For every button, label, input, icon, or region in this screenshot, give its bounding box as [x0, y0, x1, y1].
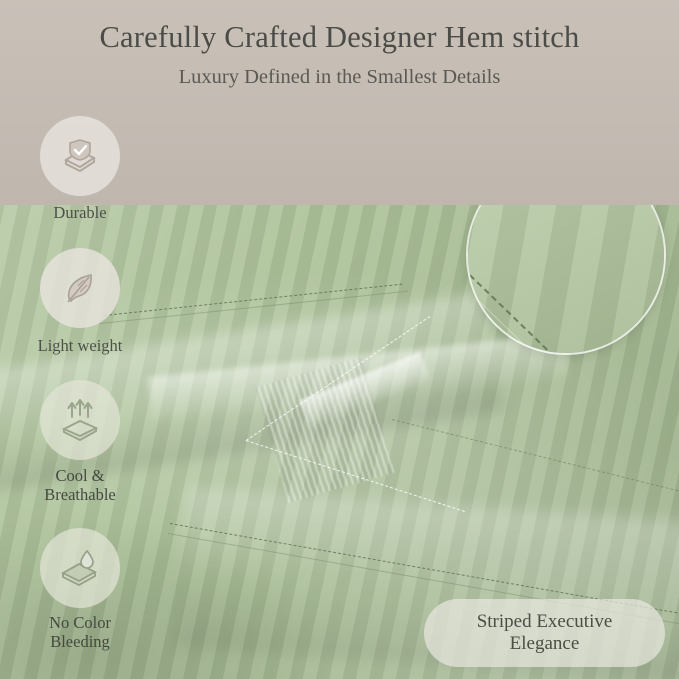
- product-infographic: Carefully Crafted Designer Hem stitch Lu…: [0, 0, 679, 679]
- no-color-bleeding-icon: [57, 545, 103, 591]
- caption-pill: Striped Executive Elegance: [424, 599, 665, 667]
- caption-line-2: Elegance: [510, 633, 580, 654]
- breathable-arrows-icon: [57, 397, 103, 443]
- zoom-fabric-texture: [466, 205, 666, 355]
- feature-label-durable: Durable: [0, 203, 160, 222]
- feature-label-cool-breathable: Cool & Breathable: [0, 466, 160, 504]
- feature-badge-light-weight: [40, 248, 120, 328]
- caption-text: Striped Executive Elegance: [477, 611, 613, 655]
- page-subtitle: Luxury Defined in the Smallest Details: [0, 66, 679, 89]
- hem-stitch-zoom-circle: [466, 205, 666, 355]
- feature-badge-cool-breathable: [40, 380, 120, 460]
- feather-icon: [58, 266, 102, 310]
- caption-line-1: Striped Executive: [477, 611, 613, 632]
- feature-label-no-color-bleeding: No Color Bleeding: [0, 613, 160, 651]
- feature-badge-durable: [40, 116, 120, 196]
- folded-sheet-shield-icon: [58, 134, 102, 178]
- feature-badge-no-color-bleeding: [40, 528, 120, 608]
- feature-label-light-weight: Light weight: [0, 336, 160, 355]
- page-title: Carefully Crafted Designer Hem stitch: [0, 20, 679, 55]
